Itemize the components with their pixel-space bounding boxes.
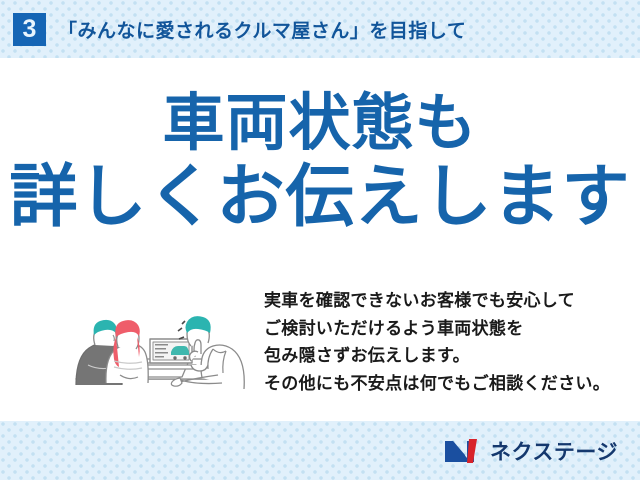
consultation-illustration-svg [58, 279, 256, 405]
nextstage-n-mark-icon [443, 437, 483, 465]
lower-content: 実車を確認できないお客様でも安心して ご検討いただけるよう車両状態を 包み隠さず… [0, 271, 640, 421]
step-number-badge: 3 [13, 13, 46, 46]
headline-line-1: 車両状態も [0, 92, 640, 155]
content-stage: 車両状態も 詳しくお伝えします [0, 58, 640, 421]
header: 3 「みんなに愛されるクルマ屋さん」を目指して [0, 0, 640, 58]
nextstage-logo-text: ネクステージ [490, 436, 618, 466]
header-title: 「みんなに愛されるクルマ屋さん」を目指して [58, 16, 466, 43]
slide-root: 3 「みんなに愛されるクルマ屋さん」を目指して 車両状態も 詳しくお伝えします [0, 0, 640, 480]
nextstage-logo: ネクステージ [443, 436, 618, 466]
headline-line-2: 詳しくお伝えします [0, 163, 640, 232]
body-copy-line-2: ご検討いただけるよう車両状態を [264, 315, 610, 343]
consultation-illustration [58, 279, 256, 405]
headline: 車両状態も 詳しくお伝えします [0, 92, 640, 233]
body-copy-line-3: 包み隠さずお伝えします。 [264, 342, 610, 370]
body-copy: 実車を確認できないお客様でも安心して ご検討いただけるよう車両状態を 包み隠さず… [264, 287, 610, 397]
body-copy-line-4: その他にも不安点は何でもご相談ください。 [264, 370, 610, 398]
footer: ネクステージ [0, 421, 640, 480]
body-copy-line-1: 実車を確認できないお客様でも安心して [264, 287, 610, 315]
